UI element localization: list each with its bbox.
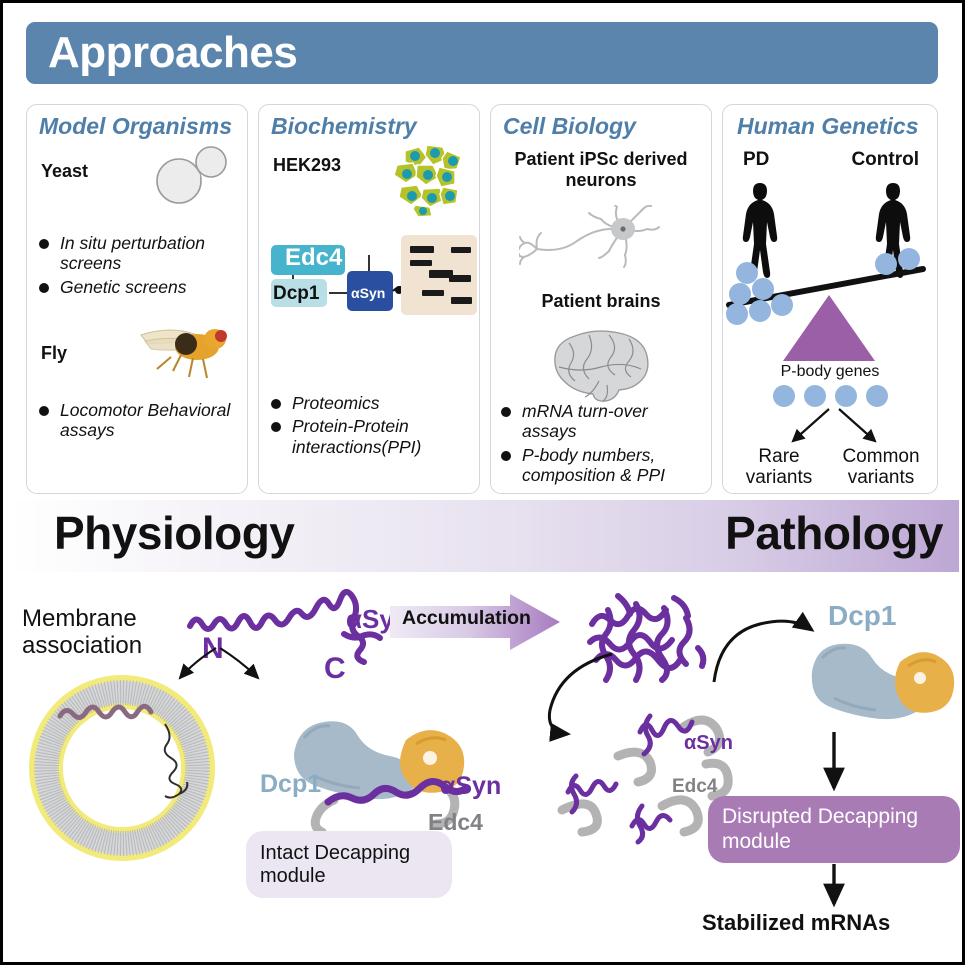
branch-arrows-mechanism xyxy=(158,642,288,702)
neuron-icon xyxy=(519,205,685,275)
label-common-variants: Common variants xyxy=(827,447,935,489)
mechanism-section: Membrane association N C αSyn xyxy=(8,572,959,961)
label-dcp1: Dcp1 xyxy=(273,283,319,305)
down-arrow-to-module xyxy=(814,730,854,800)
panel-model-organisms: Model Organisms Yeast In situ perturbati… xyxy=(26,104,248,494)
figure-root: Approaches Model Organisms Yeast In situ… xyxy=(0,0,965,965)
list-item: In situ perturbation screens xyxy=(37,233,242,274)
list-item: Genetic screens xyxy=(37,277,242,297)
panel-title-model-organisms: Model Organisms xyxy=(39,113,232,140)
panel-human-genetics: Human Genetics PD Control xyxy=(722,104,938,494)
label-accumulation: Accumulation xyxy=(402,607,531,630)
panel-cell-biology: Cell Biology Patient iPSc derived neuron… xyxy=(490,104,712,494)
free-dcp1-complex-icon xyxy=(804,638,956,730)
bullets-fly: Locomotor Behavioral assays xyxy=(37,400,237,444)
intact-decapping-module-label: Intact Decapping module xyxy=(260,842,438,888)
list-item: Proteomics xyxy=(269,393,474,413)
label-c-terminus: C xyxy=(324,652,346,686)
western-blot-icon xyxy=(401,235,477,315)
approaches-title: Approaches xyxy=(26,31,297,75)
physiology-pathology-band: Physiology Pathology xyxy=(8,500,959,572)
label-edc4-right: Edc4 xyxy=(672,776,717,798)
yeast-cell-icon xyxy=(145,143,237,207)
list-item: Locomotor Behavioral assays xyxy=(37,400,237,441)
label-edc4: Edc4 xyxy=(285,244,342,272)
subhead-ipsc-neurons: Patient iPSc derived neurons xyxy=(491,149,711,191)
label-pbody-genes: P-body genes xyxy=(723,363,937,381)
cultured-cells-icon xyxy=(387,143,473,217)
label-dcp1-right: Dcp1 xyxy=(828,600,896,632)
panel-biochemistry: Biochemistry HEK293 xyxy=(258,104,480,494)
subhead-patient-brains: Patient brains xyxy=(491,291,711,312)
label-control-group: Control xyxy=(851,149,919,171)
label-asyn-right: αSyn xyxy=(684,732,733,755)
label-rare-variants: Rare variants xyxy=(729,447,829,489)
bullets-yeast: In situ perturbation screens Genetic scr… xyxy=(37,233,242,300)
label-asyn: αSyn xyxy=(351,285,385,301)
panel-title-biochemistry: Biochemistry xyxy=(271,113,417,140)
subhead-fly: Fly xyxy=(41,343,67,364)
label-physiology: Physiology xyxy=(54,506,294,560)
disrupted-decapping-module-label: Disrupted Decapping module xyxy=(722,805,946,853)
label-dcp1-left: Dcp1 xyxy=(260,770,321,799)
approaches-section: Approaches Model Organisms Yeast In situ… xyxy=(8,8,959,500)
panel-title-human-genetics: Human Genetics xyxy=(737,113,919,140)
subhead-hek293: HEK293 xyxy=(273,155,341,176)
label-pd-group: PD xyxy=(743,149,769,171)
subhead-yeast: Yeast xyxy=(41,161,88,182)
bullets-cell-biology: mRNA turn-over assays P-body numbers, co… xyxy=(499,401,707,488)
list-item: mRNA turn-over assays xyxy=(499,401,707,442)
label-pathology: Pathology xyxy=(725,506,943,560)
fly-icon xyxy=(131,313,235,383)
bullets-biochemistry: Proteomics Protein-Protein interactions(… xyxy=(269,393,474,460)
brain-icon xyxy=(539,323,665,407)
seesaw-icon xyxy=(723,177,936,377)
intact-decapping-module-pill: Intact Decapping module xyxy=(246,831,452,898)
down-arrow-to-mrna xyxy=(814,864,854,916)
panel-title-cell-biology: Cell Biology xyxy=(503,113,636,140)
approaches-banner: Approaches xyxy=(26,22,938,84)
label-stabilized-mrnas: Stabilized mRNAs xyxy=(702,910,890,936)
branch-arrows-icon xyxy=(763,405,903,451)
label-membrane-association: Membrane association xyxy=(22,606,162,660)
list-item: P-body numbers, composition & PPI xyxy=(499,445,707,486)
list-item: Protein-Protein interactions(PPI) xyxy=(269,416,474,457)
label-asyn-complex: αSyn xyxy=(440,772,501,801)
disrupted-decapping-module-pill: Disrupted Decapping module xyxy=(708,796,960,863)
